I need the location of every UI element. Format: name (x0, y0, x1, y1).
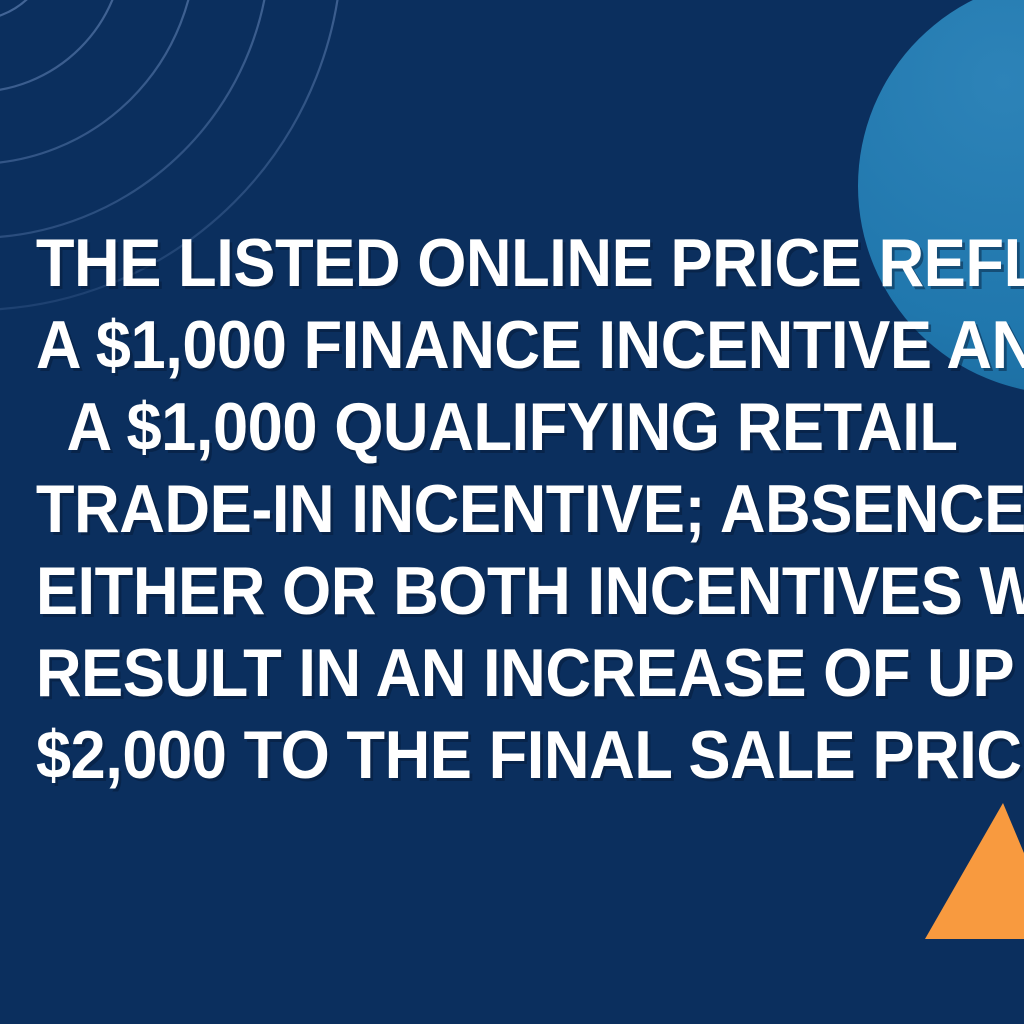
arc-ring-2 (0, 0, 124, 92)
top-right-circle (858, 0, 1024, 394)
arc-ring-4 (0, 0, 270, 238)
bottom-right-triangle (925, 803, 1024, 939)
arc-ring-1 (0, 0, 52, 20)
concentric-arcs (0, 0, 342, 310)
disclaimer-graphic: THE LISTED ONLINE PRICE REFLECTS A $1,00… (0, 0, 1024, 1024)
decorative-shapes-layer (0, 0, 1024, 1024)
